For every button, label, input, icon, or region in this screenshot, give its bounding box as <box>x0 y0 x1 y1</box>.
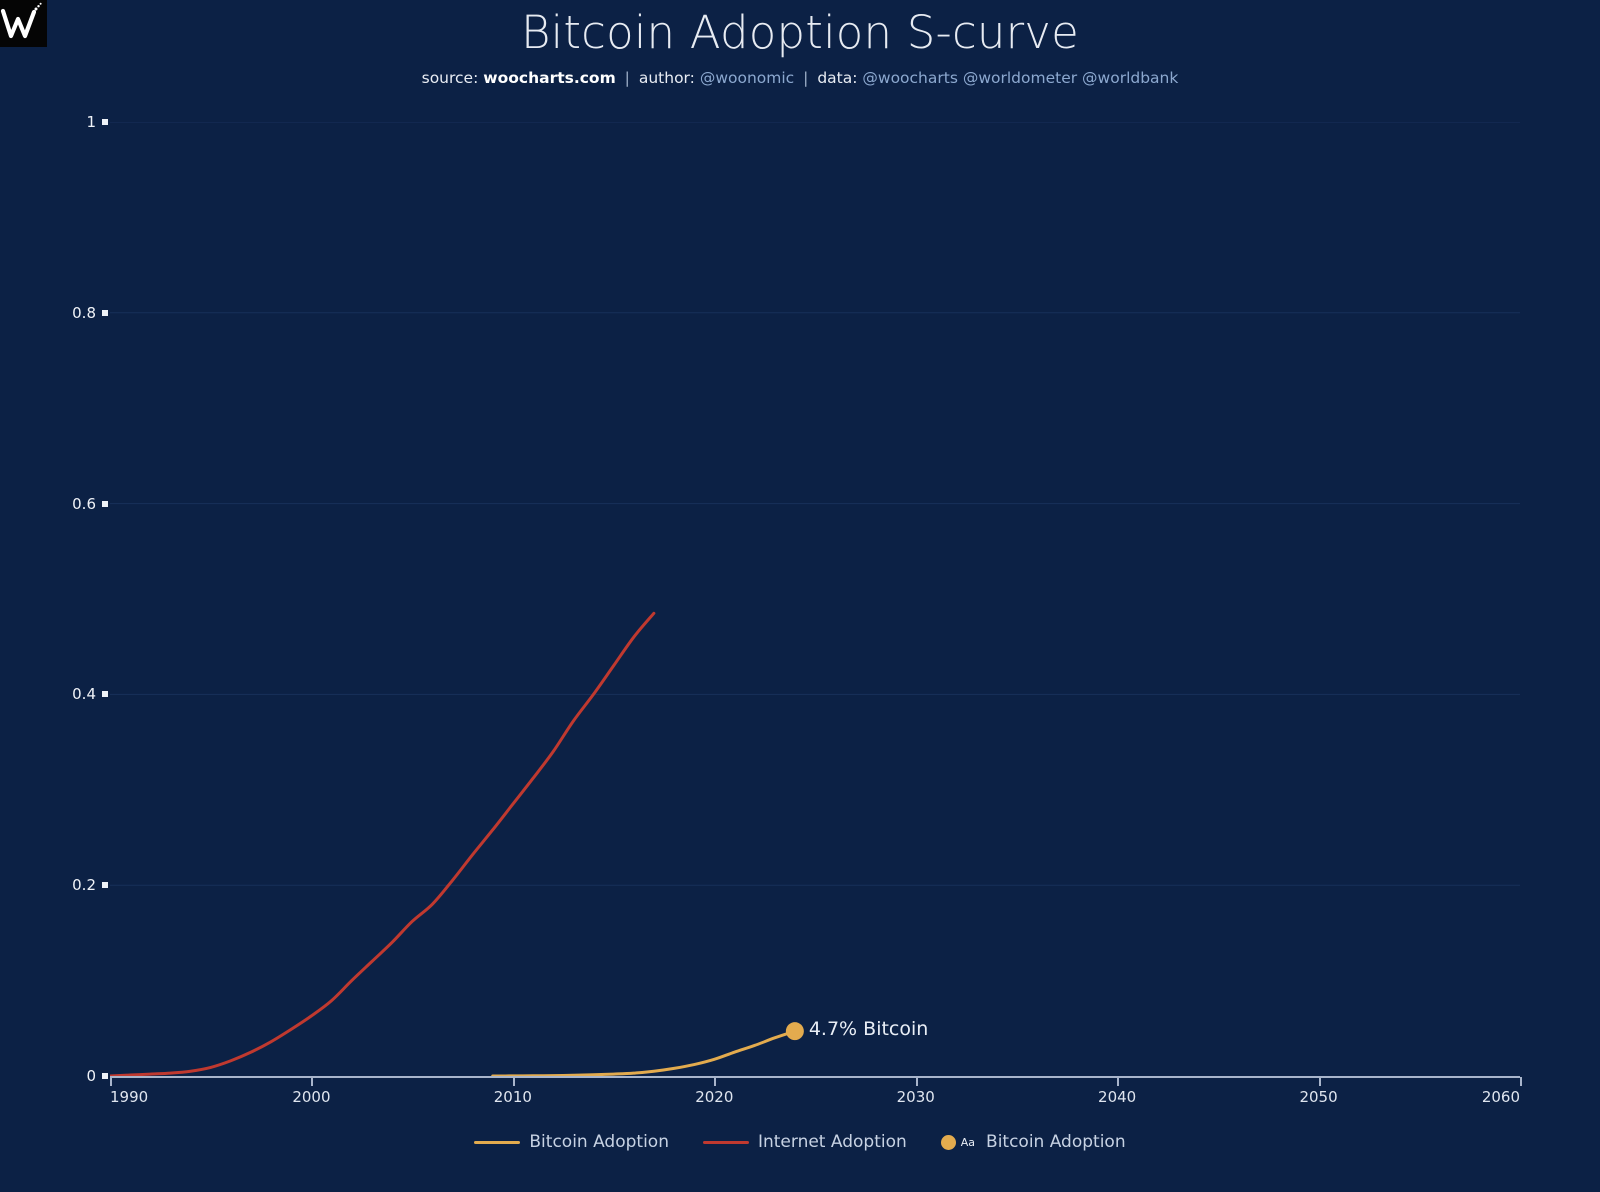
x-axis-tick-mark <box>110 1077 112 1086</box>
annotation-label: 4.7% Bitcoin <box>809 1018 928 1040</box>
x-axis-tick-mark <box>311 1077 313 1086</box>
y-axis-tick-label: 0.6 <box>72 495 108 513</box>
y-axis-tick-label: 0.8 <box>72 304 108 322</box>
bitcoin-data-point-marker[interactable] <box>786 1022 804 1040</box>
chart-canvas <box>110 122 1520 1076</box>
y-axis-tick-square-icon <box>102 691 108 697</box>
subtitle-source-value[interactable]: woocharts.com <box>483 69 615 87</box>
plot-area <box>110 122 1520 1076</box>
x-axis-tick-label: 2030 <box>897 1088 935 1106</box>
woocharts-w-logo-icon <box>0 0 47 47</box>
legend-item-label: Bitcoin Adoption <box>986 1132 1126 1152</box>
subtitle-data-label: data: <box>817 69 857 87</box>
y-axis-tick-value: 0.6 <box>72 495 96 513</box>
y-axis-tick-square-icon <box>102 1073 108 1079</box>
chart-legend: Bitcoin AdoptionInternet AdoptionAaBitco… <box>0 1132 1600 1152</box>
y-axis-tick-square-icon <box>102 310 108 316</box>
series-line-internet-adoption <box>110 613 654 1076</box>
subtitle-author-label: author: <box>639 69 695 87</box>
x-axis-tick-label: 1990 <box>110 1088 148 1106</box>
legend-item-label: Bitcoin Adoption <box>529 1132 669 1152</box>
subtitle-source-label: source: <box>422 69 479 87</box>
subtitle-separator-2: | <box>799 69 812 87</box>
legend-text-style-icon: Aa <box>961 1136 975 1149</box>
y-axis-tick-square-icon <box>102 501 108 507</box>
x-axis-tick-label: 2020 <box>695 1088 733 1106</box>
x-axis-line <box>110 1076 1520 1078</box>
subtitle-author-handle[interactable]: @woonomic <box>700 69 794 87</box>
legend-line-swatch-icon <box>474 1141 520 1144</box>
legend-dot-swatch-icon <box>941 1135 956 1150</box>
chart-subtitle: source: woocharts.com | author: @woonomi… <box>0 59 1600 87</box>
y-axis-tick-value: 0.8 <box>72 304 96 322</box>
y-axis-tick-label: 1 <box>86 113 108 131</box>
series-line-bitcoin-adoption <box>493 1031 795 1076</box>
x-axis-tick-mark <box>714 1077 716 1086</box>
y-axis-tick-square-icon <box>102 119 108 125</box>
y-axis-tick-value: 0.2 <box>72 876 96 894</box>
legend-item-label: Internet Adoption <box>758 1132 907 1152</box>
woocharts-logo[interactable] <box>0 0 47 47</box>
legend-item[interactable]: AaBitcoin Adoption <box>941 1132 1126 1152</box>
x-axis-tick-mark <box>513 1077 515 1086</box>
legend-line-swatch-icon <box>703 1141 749 1144</box>
y-axis-tick-value: 1 <box>86 113 96 131</box>
chart-page: Bitcoin Adoption S-curve source: woochar… <box>0 0 1600 1192</box>
page-title: Bitcoin Adoption S-curve <box>0 0 1600 59</box>
x-axis-tick-label: 2010 <box>494 1088 532 1106</box>
x-axis-tick-mark <box>1520 1077 1522 1086</box>
y-axis: 00.20.40.60.81 <box>0 122 108 1076</box>
legend-item[interactable]: Internet Adoption <box>703 1132 907 1152</box>
gridlines <box>110 122 1520 885</box>
x-axis-tick-mark <box>1117 1077 1119 1086</box>
x-axis-tick-label: 2050 <box>1299 1088 1337 1106</box>
y-axis-tick-value: 0.4 <box>72 685 96 703</box>
subtitle-data-handles[interactable]: @woocharts @worldometer @worldbank <box>862 69 1178 87</box>
x-axis-tick-mark <box>1319 1077 1321 1086</box>
subtitle-separator-1: | <box>621 69 634 87</box>
y-axis-tick-square-icon <box>102 882 108 888</box>
x-axis-tick-mark <box>916 1077 918 1086</box>
legend-item[interactable]: Bitcoin Adoption <box>474 1132 669 1152</box>
x-axis-tick-label: 2040 <box>1098 1088 1136 1106</box>
y-axis-tick-label: 0 <box>86 1067 108 1085</box>
x-axis-tick-label: 2060 <box>1482 1088 1520 1106</box>
data-point-markers <box>786 1022 804 1040</box>
y-axis-tick-label: 0.2 <box>72 876 108 894</box>
x-axis-tick-label: 2000 <box>292 1088 330 1106</box>
y-axis-tick-label: 0.4 <box>72 685 108 703</box>
y-axis-tick-value: 0 <box>86 1067 96 1085</box>
data-series-layer <box>110 613 795 1076</box>
chart-header: Bitcoin Adoption S-curve source: woochar… <box>0 0 1600 87</box>
